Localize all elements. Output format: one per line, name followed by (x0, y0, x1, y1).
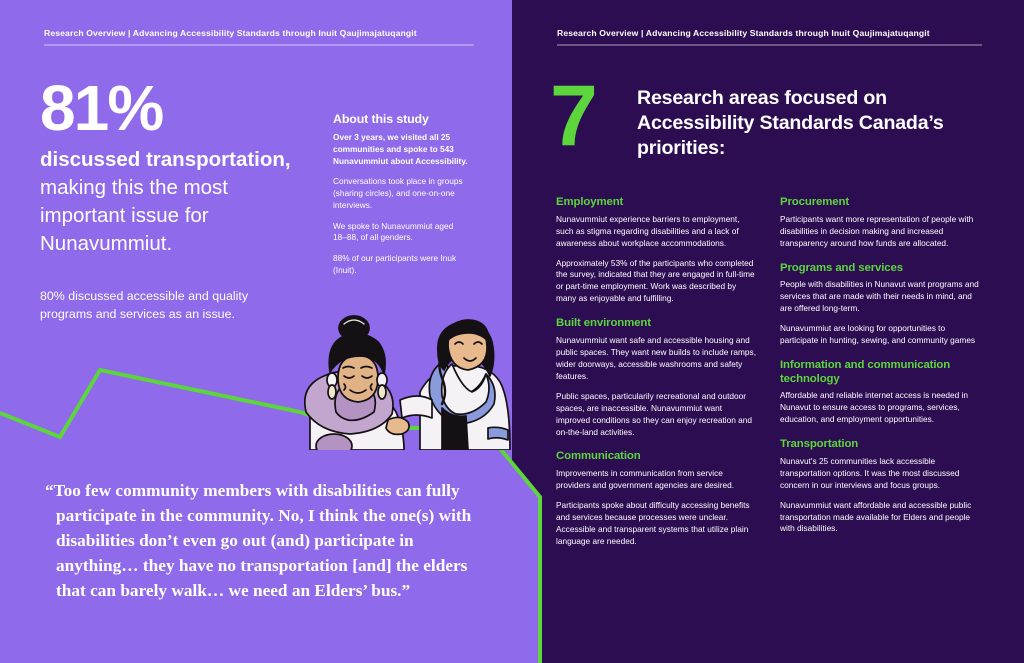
area-title: Built environment (556, 317, 756, 331)
header-right-rule (557, 44, 982, 46)
research-column-2: Procurement Participants want more repre… (780, 196, 980, 560)
research-areas-title: Research areas focused on Accessibility … (637, 86, 967, 161)
area-title: Procurement (780, 196, 980, 210)
header-left-text: Research Overview | Advancing Accessibil… (44, 28, 417, 38)
area-paragraph: Public spaces, particularily recreationa… (556, 391, 756, 439)
participant-quote: “Too few community members with disabili… (56, 479, 476, 604)
about-paragraph: Conversations took place in groups (shar… (333, 176, 468, 211)
research-areas-columns: Employment Nunavummiut experience barrie… (556, 196, 1004, 560)
area-title: Information and communication technology (780, 359, 980, 386)
sub-statistic: 80% discussed accessible and quality pro… (40, 288, 300, 323)
area-paragraph: Affordable and reliable internet access … (780, 390, 980, 426)
research-area: Procurement Participants want more repre… (780, 196, 980, 250)
area-paragraph: Participants want more representation of… (780, 214, 980, 250)
research-area: Communication Improvements in communicat… (556, 450, 756, 547)
area-paragraph: Participants spoke about difficulty acce… (556, 500, 756, 548)
about-title: About this study (333, 112, 468, 126)
header-left-rule (44, 44, 474, 46)
quote-text: “Too few community members with disabili… (45, 481, 471, 600)
about-this-study: About this study Over 3 years, we visite… (333, 112, 468, 286)
research-area: Programs and services People with disabi… (780, 262, 980, 347)
infographic-page: Research Overview | Advancing Accessibil… (0, 0, 1024, 663)
area-paragraph: Nunavummiut are looking for opportunitie… (780, 323, 980, 347)
stat-number: 81% (40, 76, 162, 140)
headline-bold: discussed transportation, (40, 148, 291, 171)
area-paragraph: Approximately 53% of the participants wh… (556, 258, 756, 306)
research-area-count: 7 (550, 80, 594, 153)
headline-rest: making this the most important issue for… (40, 176, 228, 255)
research-area: Employment Nunavummiut experience barrie… (556, 196, 756, 305)
research-area: Built environment Nunavummiut want safe … (556, 317, 756, 438)
area-title: Programs and services (780, 262, 980, 276)
header-right-text: Research Overview | Advancing Accessibil… (557, 28, 930, 38)
area-title: Communication (556, 450, 756, 464)
area-paragraph: Nunavummiut experience barriers to emplo… (556, 214, 756, 250)
about-paragraph: We spoke to Nunavummiut aged 18–88, of a… (333, 221, 468, 245)
area-paragraph: People with disabilities in Nunavut want… (780, 279, 980, 315)
headline: discussed transportation, making this th… (40, 146, 310, 258)
about-paragraph: 88% of our participants were Inuk (Inuit… (333, 253, 468, 277)
research-area: Transportation Nunavut's 25 communities … (780, 438, 980, 535)
area-paragraph: Nunavut's 25 communities lack accessible… (780, 456, 980, 492)
illustration-two-women (292, 300, 522, 450)
about-paragraph: Over 3 years, we visited all 25 communit… (333, 132, 468, 167)
research-column-1: Employment Nunavummiut experience barrie… (556, 196, 756, 560)
area-title: Transportation (780, 438, 980, 452)
area-paragraph: Nunavummiut want safe and accessible hou… (556, 335, 756, 383)
area-paragraph: Nunavummiut want affordable and accessib… (780, 500, 980, 536)
area-paragraph: Improvements in communication from servi… (556, 468, 756, 492)
area-title: Employment (556, 196, 756, 210)
research-area: Information and communication technology… (780, 359, 980, 426)
